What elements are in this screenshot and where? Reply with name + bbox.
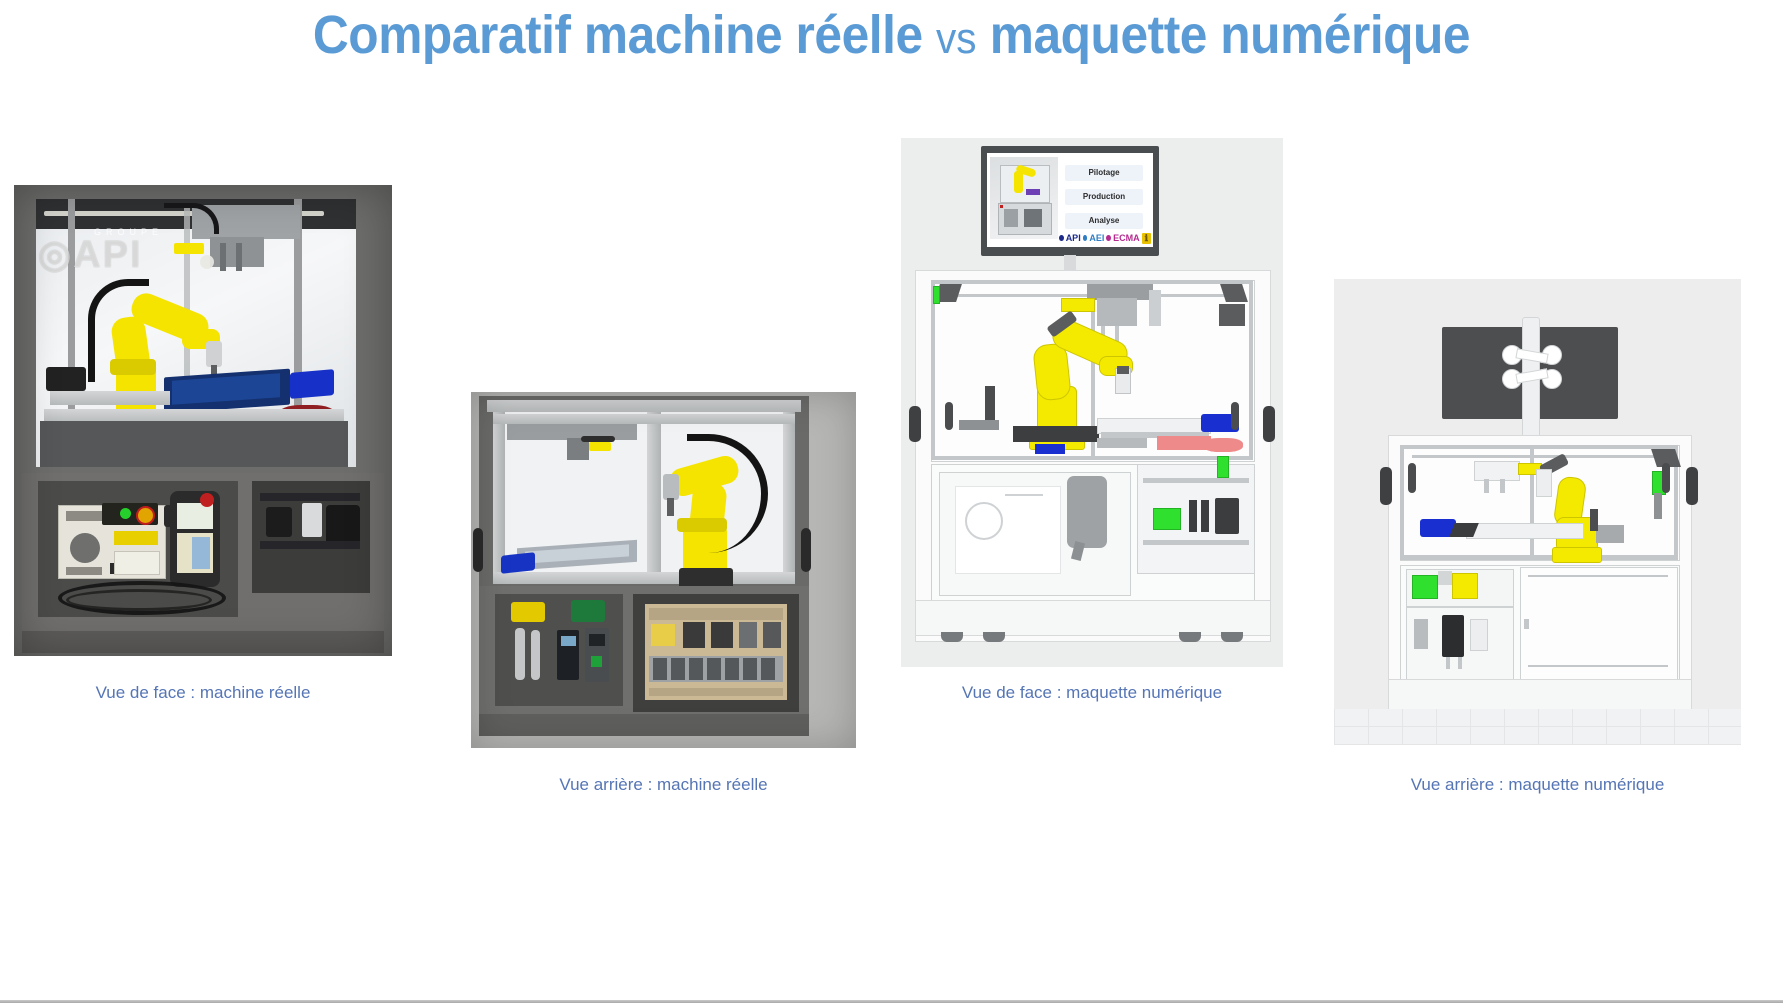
title-vs: vs (936, 14, 976, 63)
variable-frequency-drive (1442, 615, 1464, 657)
machine-foot (941, 632, 963, 642)
cad-front-digital-mockup[interactable]: Pilotage Production Analyse API AEI ECMA… (901, 138, 1283, 667)
cad-rear-digital-mockup[interactable] (1334, 279, 1741, 745)
caption-rear-real: Vue arrière : machine réelle (471, 775, 856, 795)
hmi-monitor[interactable]: Pilotage Production Analyse API AEI ECMA… (981, 146, 1159, 256)
slide-canvas: Comparatif machine réelle vs maquette nu… (0, 0, 1783, 1003)
logo-badge-info: ℹ (1142, 233, 1151, 244)
machine-foot (1179, 632, 1201, 642)
title-part-1: Comparatif machine réelle (313, 5, 936, 65)
hmi-machine-thumbnail (990, 157, 1058, 239)
hmi-button-analyse[interactable]: Analyse (1065, 213, 1143, 229)
robot-arm-cad-rear (1534, 465, 1644, 565)
page-title: Comparatif machine réelle vs maquette nu… (71, 4, 1711, 66)
logo-dot-ecma (1106, 235, 1111, 241)
caption-front-real: Vue de face : machine réelle (14, 683, 392, 703)
logo-label-aei: AEI (1089, 233, 1104, 243)
hmi-logo-row: API AEI ECMA ℹ (1059, 232, 1151, 244)
photo-front-real-machine[interactable]: GROUPE ◎API (14, 185, 392, 656)
logo-dot-aei (1083, 235, 1088, 241)
pneumatic-unit-yellow (1452, 573, 1478, 599)
pneumatic-unit-green (1412, 575, 1438, 599)
logo-label-ecma: ECMA (1113, 233, 1140, 243)
hmi-button-pilotage[interactable]: Pilotage (1065, 165, 1143, 181)
hmi-screen[interactable]: Pilotage Production Analyse API AEI ECMA… (987, 153, 1153, 247)
title-part-2: maquette numérique (976, 5, 1470, 65)
photo-rear-real-machine[interactable] (471, 392, 856, 748)
caption-rear-digital: Vue arrière : maquette numérique (1334, 775, 1741, 795)
vesa-mount (1502, 345, 1560, 387)
hmi-button-production[interactable]: Production (1065, 189, 1143, 205)
machine-foot (983, 632, 1005, 642)
machine-foot (1221, 632, 1243, 642)
logo-label-api: API (1066, 233, 1081, 243)
caption-front-digital: Vue de face : maquette numérique (901, 683, 1283, 703)
logo-dot-api (1059, 235, 1064, 241)
